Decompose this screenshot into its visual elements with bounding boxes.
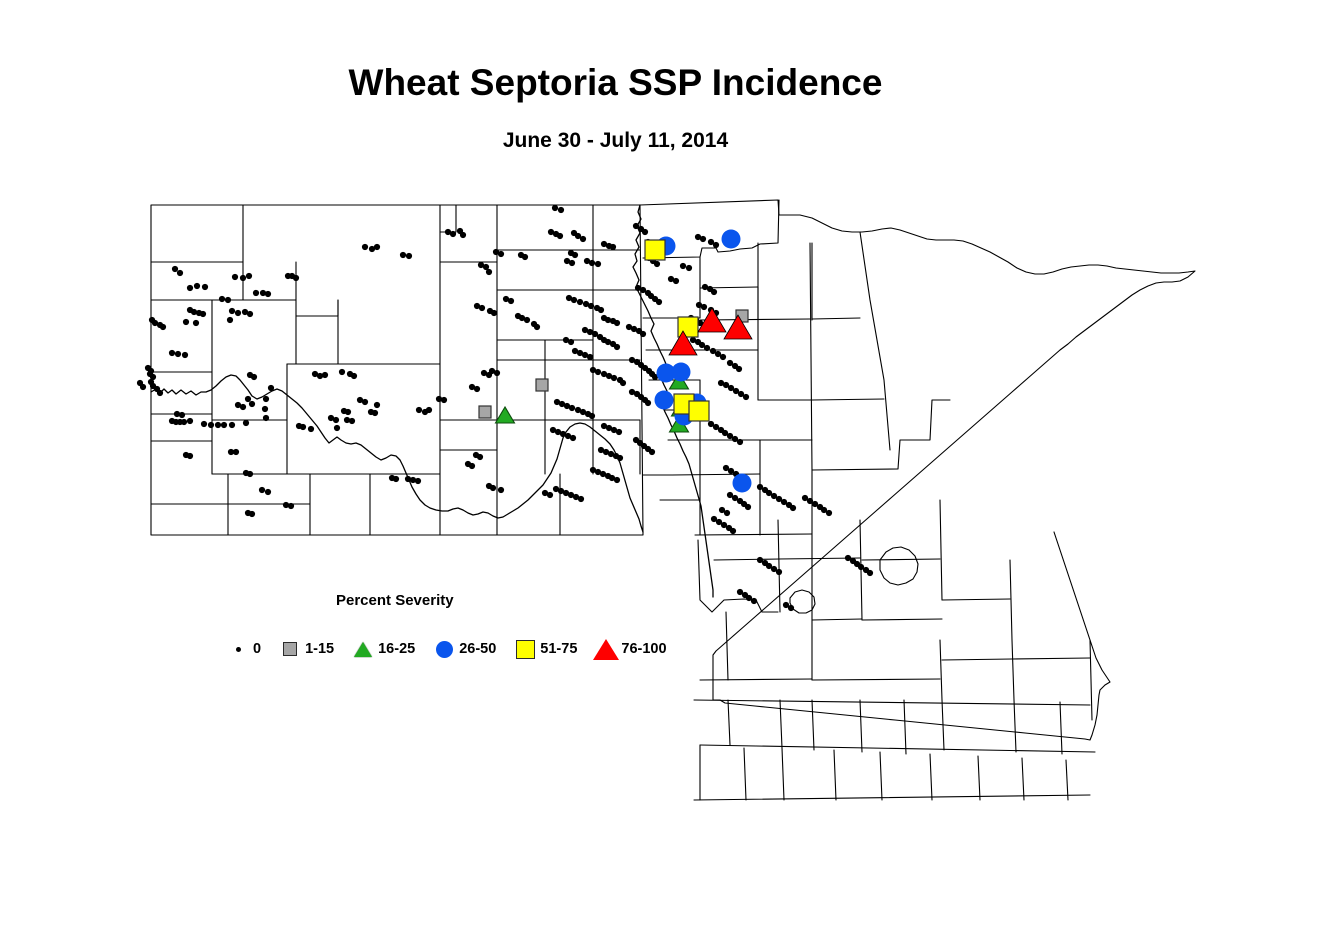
map-marker-zero: [450, 231, 456, 237]
map-marker-zero: [494, 370, 500, 376]
map-marker-zero: [229, 308, 235, 314]
map-marker-zero: [736, 366, 742, 372]
map-marker-26-50: [722, 230, 741, 249]
map-marker-zero: [215, 422, 221, 428]
map-marker-zero: [776, 569, 782, 575]
map-canvas: [0, 0, 1341, 926]
map-marker-zero: [351, 373, 357, 379]
map-marker-zero: [345, 409, 351, 415]
map-marker-zero: [558, 207, 564, 213]
map-marker-zero: [649, 449, 655, 455]
map-marker-zero: [578, 496, 584, 502]
map-marker-zero: [571, 297, 577, 303]
map-marker-zero: [208, 422, 214, 428]
map-marker-zero: [259, 487, 265, 493]
legend-label-51-75: 51-75: [540, 641, 577, 657]
map-marker-zero: [826, 510, 832, 516]
map-marker-zero: [219, 296, 225, 302]
blue-circle-icon: [434, 641, 454, 658]
map-marker-zero: [656, 299, 662, 305]
map-marker-zero: [308, 426, 314, 432]
legend: 0 1-15 16-25 26-50 51-75 76-100: [228, 636, 686, 662]
map-marker-zero: [441, 397, 447, 403]
map-marker-zero: [262, 406, 268, 412]
map-marker-zero: [225, 297, 231, 303]
gray-square-icon: [280, 642, 300, 656]
map-marker-zero: [534, 324, 540, 330]
map-marker-26-50: [672, 363, 691, 382]
map-marker-zero: [570, 435, 576, 441]
map-marker-zero: [339, 369, 345, 375]
map-marker-zero: [374, 244, 380, 250]
marker-layer-blue: [655, 230, 752, 493]
map-marker-zero: [522, 254, 528, 260]
map-marker-zero: [349, 418, 355, 424]
map-marker-zero: [227, 317, 233, 323]
legend-item-0[interactable]: 0: [228, 641, 261, 657]
map-marker-zero: [202, 284, 208, 290]
map-marker-zero: [169, 350, 175, 356]
map-marker-zero: [790, 505, 796, 511]
map-marker-zero: [486, 269, 492, 275]
map-marker-zero: [221, 422, 227, 428]
map-marker-zero: [140, 384, 146, 390]
map-marker-zero: [249, 511, 255, 517]
map-marker-zero: [498, 487, 504, 493]
map-marker-zero: [374, 402, 380, 408]
map-marker-zero: [253, 290, 259, 296]
map-marker-26-50: [733, 474, 752, 493]
map-marker-zero: [498, 251, 504, 257]
map-marker-zero: [490, 485, 496, 491]
legend-label-0: 0: [253, 641, 261, 657]
map-marker-zero: [508, 298, 514, 304]
map-marker-zero: [322, 372, 328, 378]
map-marker-zero: [372, 410, 378, 416]
map-marker-zero: [654, 261, 660, 267]
map-marker-zero: [700, 236, 706, 242]
red-triangle-icon: [596, 639, 616, 660]
missouri-river: [151, 375, 643, 532]
map-marker-zero: [265, 291, 271, 297]
map-marker-zero: [595, 261, 601, 267]
map-marker-zero: [645, 400, 651, 406]
map-marker-zero: [867, 570, 873, 576]
map-marker-zero: [193, 320, 199, 326]
map-marker-zero: [235, 310, 241, 316]
map-marker-zero: [416, 407, 422, 413]
map-marker-zero: [572, 252, 578, 258]
legend-item-1-15[interactable]: 1-15: [280, 641, 334, 657]
map-marker-zero: [580, 236, 586, 242]
map-marker-zero: [263, 396, 269, 402]
map-marker-zero: [362, 244, 368, 250]
map-marker-zero: [181, 419, 187, 425]
map-marker-zero: [187, 418, 193, 424]
map-marker-zero: [713, 242, 719, 248]
map-marker-16-25: [496, 407, 515, 423]
map-marker-zero: [187, 285, 193, 291]
legend-label-1-15: 1-15: [305, 641, 334, 657]
minnesota-lake-outlines: [880, 547, 918, 585]
map-marker-zero: [737, 439, 743, 445]
map-marker-zero: [229, 422, 235, 428]
map-marker-zero: [469, 463, 475, 469]
map-marker-zero: [240, 275, 246, 281]
map-marker-zero: [616, 429, 622, 435]
map-marker-zero: [393, 476, 399, 482]
legend-item-51-75[interactable]: 51-75: [515, 640, 577, 659]
map-marker-zero: [400, 252, 406, 258]
legend-label-76-100: 76-100: [621, 641, 666, 657]
map-marker-zero: [701, 304, 707, 310]
map-marker-zero: [187, 453, 193, 459]
map-marker-zero: [293, 275, 299, 281]
map-marker-zero: [614, 344, 620, 350]
map-marker-zero: [426, 407, 432, 413]
map-marker-zero: [568, 339, 574, 345]
legend-item-26-50[interactable]: 26-50: [434, 641, 496, 658]
map-marker-zero: [745, 504, 751, 510]
map-marker-zero: [614, 477, 620, 483]
map-marker-zero: [751, 598, 757, 604]
map-marker-zero: [577, 299, 583, 305]
map-marker-zero: [474, 386, 480, 392]
map-marker-zero: [730, 528, 736, 534]
map-marker-zero: [265, 489, 271, 495]
map-marker-zero: [247, 471, 253, 477]
map-marker-zero: [491, 310, 497, 316]
map-marker-zero: [233, 449, 239, 455]
map-marker-zero: [177, 270, 183, 276]
map-marker-zero: [587, 354, 593, 360]
legend-title: Percent Severity: [336, 592, 454, 609]
map-marker-1-15: [479, 406, 491, 418]
map-marker-zero: [557, 233, 563, 239]
map-marker-zero: [243, 420, 249, 426]
map-marker-51-75: [645, 240, 665, 260]
map-marker-zero: [640, 331, 646, 337]
map-marker-zero: [680, 263, 686, 269]
legend-item-16-25[interactable]: 16-25: [353, 641, 415, 657]
map-marker-zero: [246, 273, 252, 279]
map-marker-zero: [247, 311, 253, 317]
map-marker-zero: [160, 324, 166, 330]
map-marker-zero: [183, 319, 189, 325]
map-marker-zero: [333, 417, 339, 423]
map-marker-zero: [179, 412, 185, 418]
map-marker-zero: [263, 415, 269, 421]
map-marker-zero: [642, 229, 648, 235]
map-marker-zero: [711, 289, 717, 295]
map-marker-zero: [720, 354, 726, 360]
map-marker-zero: [673, 278, 679, 284]
legend-label-16-25: 16-25: [378, 641, 415, 657]
map-marker-1-15: [536, 379, 548, 391]
map-marker-zero: [477, 454, 483, 460]
map-marker-zero: [704, 345, 710, 351]
map-marker-zero: [610, 244, 616, 250]
map-marker-zero: [589, 413, 595, 419]
map-marker-zero: [268, 385, 274, 391]
map-marker-26-50: [655, 391, 674, 410]
yellow-square-icon: [515, 640, 535, 659]
map-marker-zero: [172, 266, 178, 272]
map-marker-zero: [406, 253, 412, 259]
map-marker-zero: [300, 424, 306, 430]
map-marker-zero: [686, 265, 692, 271]
map-marker-zero: [743, 394, 749, 400]
map-page: Wheat Septoria SSP Incidence June 30 - J…: [0, 0, 1341, 926]
map-marker-zero: [232, 274, 238, 280]
dot-icon: [228, 647, 248, 652]
map-marker-zero: [479, 305, 485, 311]
map-marker-zero: [724, 510, 730, 516]
north-dakota-counties: [151, 205, 640, 535]
map-marker-zero: [157, 390, 163, 396]
map-marker-zero: [547, 492, 553, 498]
map-marker-51-75: [689, 401, 709, 421]
map-marker-zero: [569, 260, 575, 266]
map-marker-zero: [251, 374, 257, 380]
map-marker-zero: [245, 396, 251, 402]
map-marker-zero: [194, 283, 200, 289]
map-marker-zero: [201, 421, 207, 427]
map-marker-zero: [249, 401, 255, 407]
map-marker-zero: [552, 205, 558, 211]
map-marker-zero: [460, 232, 466, 238]
minnesota-outline: [640, 200, 1195, 740]
map-marker-zero: [240, 404, 246, 410]
legend-item-76-100[interactable]: 76-100: [596, 639, 666, 660]
map-marker-zero: [175, 351, 181, 357]
green-triangle-icon: [353, 642, 373, 657]
map-marker-zero: [788, 605, 794, 611]
map-marker-zero: [589, 260, 595, 266]
map-marker-zero: [148, 368, 154, 374]
map-marker-zero: [614, 320, 620, 326]
dakota-minnesota-lakes: [790, 590, 815, 613]
map-marker-zero: [617, 455, 623, 461]
map-marker-zero: [415, 478, 421, 484]
map-marker-zero: [620, 380, 626, 386]
map-marker-zero: [611, 375, 617, 381]
map-marker-zero: [182, 352, 188, 358]
map-marker-zero: [595, 369, 601, 375]
map-marker-zero: [288, 503, 294, 509]
map-marker-zero: [588, 303, 594, 309]
map-marker-zero: [362, 399, 368, 405]
map-marker-zero: [598, 307, 604, 313]
map-marker-zero: [200, 311, 206, 317]
legend-label-26-50: 26-50: [459, 641, 496, 657]
map-marker-zero: [569, 405, 575, 411]
map-marker-zero: [524, 317, 530, 323]
map-marker-zero: [334, 425, 340, 431]
